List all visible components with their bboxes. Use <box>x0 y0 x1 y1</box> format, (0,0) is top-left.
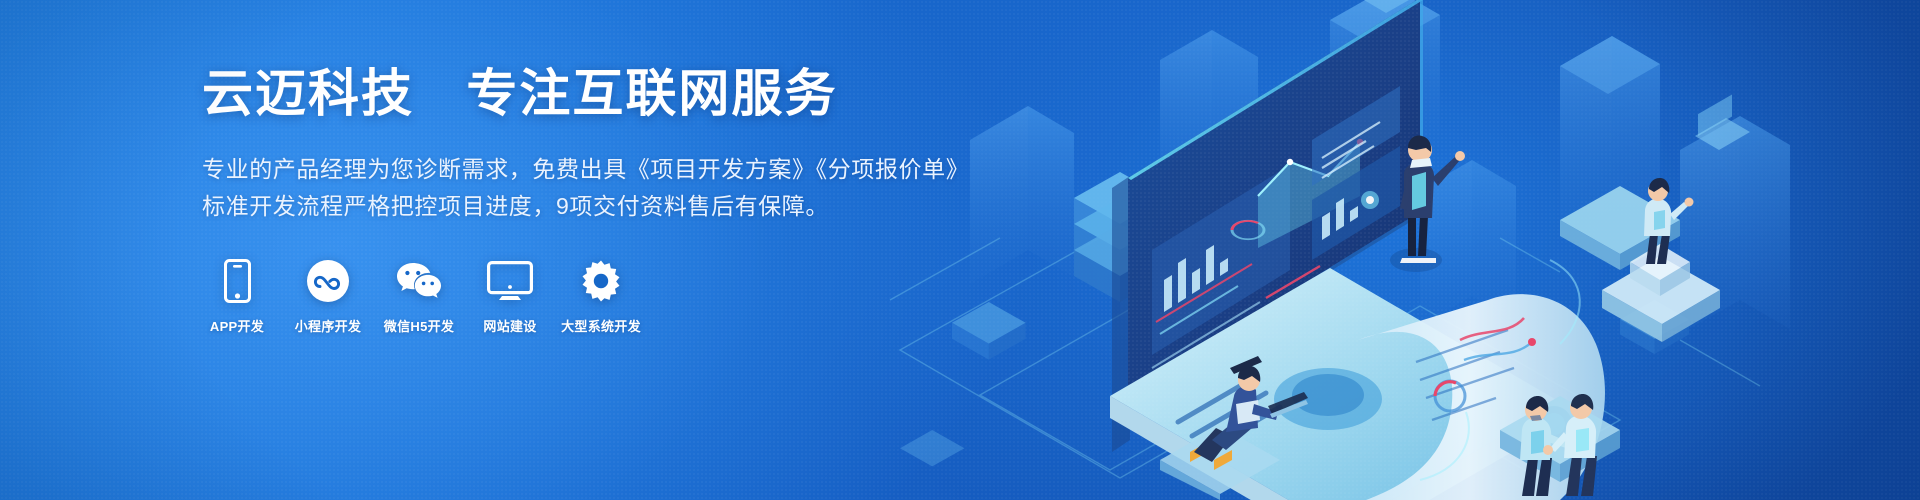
headline-tagline: 专注互联网服务 <box>466 65 837 122</box>
service-item-miniprogram[interactable]: 小程序开发 <box>293 258 363 335</box>
page-title: 云迈科技 专注互联网服务 <box>202 64 962 124</box>
service-item-app[interactable]: APP开发 <box>202 258 272 335</box>
service-label: 微信H5开发 <box>384 316 454 335</box>
banner-copy: 云迈科技 专注互联网服务 专业的产品经理为您诊断需求，免费出具《项目开发方案》《… <box>202 64 962 335</box>
service-item-website[interactable]: 网站建设 <box>475 258 545 335</box>
subtitle-line-1: 专业的产品经理为您诊断需求，免费出具《项目开发方案》《分项报价单》 <box>202 151 962 188</box>
mini-program-icon <box>307 258 349 304</box>
gear-icon <box>580 258 622 304</box>
service-label: 大型系统开发 <box>561 316 641 335</box>
promo-banner: 云迈科技 专注互联网服务 专业的产品经理为您诊断需求，免费出具《项目开发方案》《… <box>0 0 1920 500</box>
isometric-tech-illustration <box>860 0 1920 500</box>
service-label: APP开发 <box>210 316 264 335</box>
subtitle-block: 专业的产品经理为您诊断需求，免费出具《项目开发方案》《分项报价单》 标准开发流程… <box>202 151 962 226</box>
service-label: 网站建设 <box>483 316 536 335</box>
service-item-large-system[interactable]: 大型系统开发 <box>566 258 636 335</box>
service-list: APP开发 小程序开发 <box>202 258 962 335</box>
monitor-icon <box>487 258 533 304</box>
service-item-wechat-h5[interactable]: 微信H5开发 <box>384 258 454 335</box>
wechat-icon <box>395 258 443 304</box>
headline-brand: 云迈科技 <box>202 65 414 122</box>
mobile-phone-icon <box>224 258 251 304</box>
subtitle-line-2: 标准开发流程严格把控项目进度，9项交付资料售后有保障。 <box>202 188 962 225</box>
service-label: 小程序开发 <box>295 316 362 335</box>
